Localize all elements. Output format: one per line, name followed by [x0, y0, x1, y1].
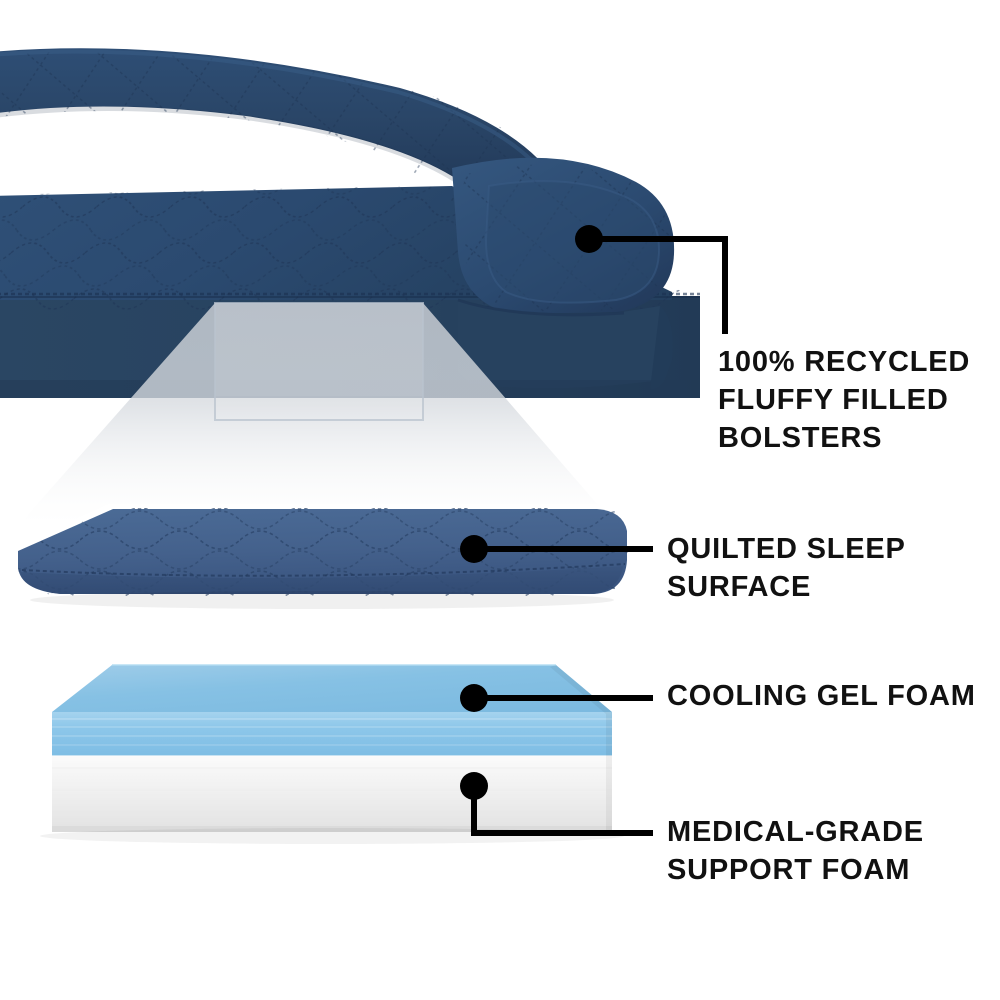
product-feature-callout-image: 100% RECYCLED FLUFFY FILLED BOLSTERS QUI…	[0, 0, 1000, 1000]
callout-label-medical-grade-support-foam: MEDICAL-GRADE SUPPORT FOAM	[667, 813, 1000, 889]
callout-dot-cooling-gel	[460, 684, 488, 712]
callout-dot-support-foam	[460, 772, 488, 800]
callout-dot-quilted-surface	[460, 535, 488, 563]
pad-shadow	[30, 591, 614, 609]
callout-label-bolsters: 100% RECYCLED FLUFFY FILLED BOLSTERS	[718, 343, 1000, 457]
foam-block-illustration	[40, 665, 624, 844]
callout-label-quilted-sleep-surface: QUILTED SLEEP SURFACE	[667, 530, 1000, 606]
quilted-pad-illustration	[0, 500, 660, 610]
cooling-gel-foam-top	[52, 665, 612, 712]
zoom-selection-box	[215, 303, 423, 420]
callout-dot-bolsters	[575, 225, 603, 253]
support-foam-side	[52, 756, 612, 832]
callout-label-cooling-gel-foam: COOLING GEL FOAM	[667, 677, 1000, 715]
